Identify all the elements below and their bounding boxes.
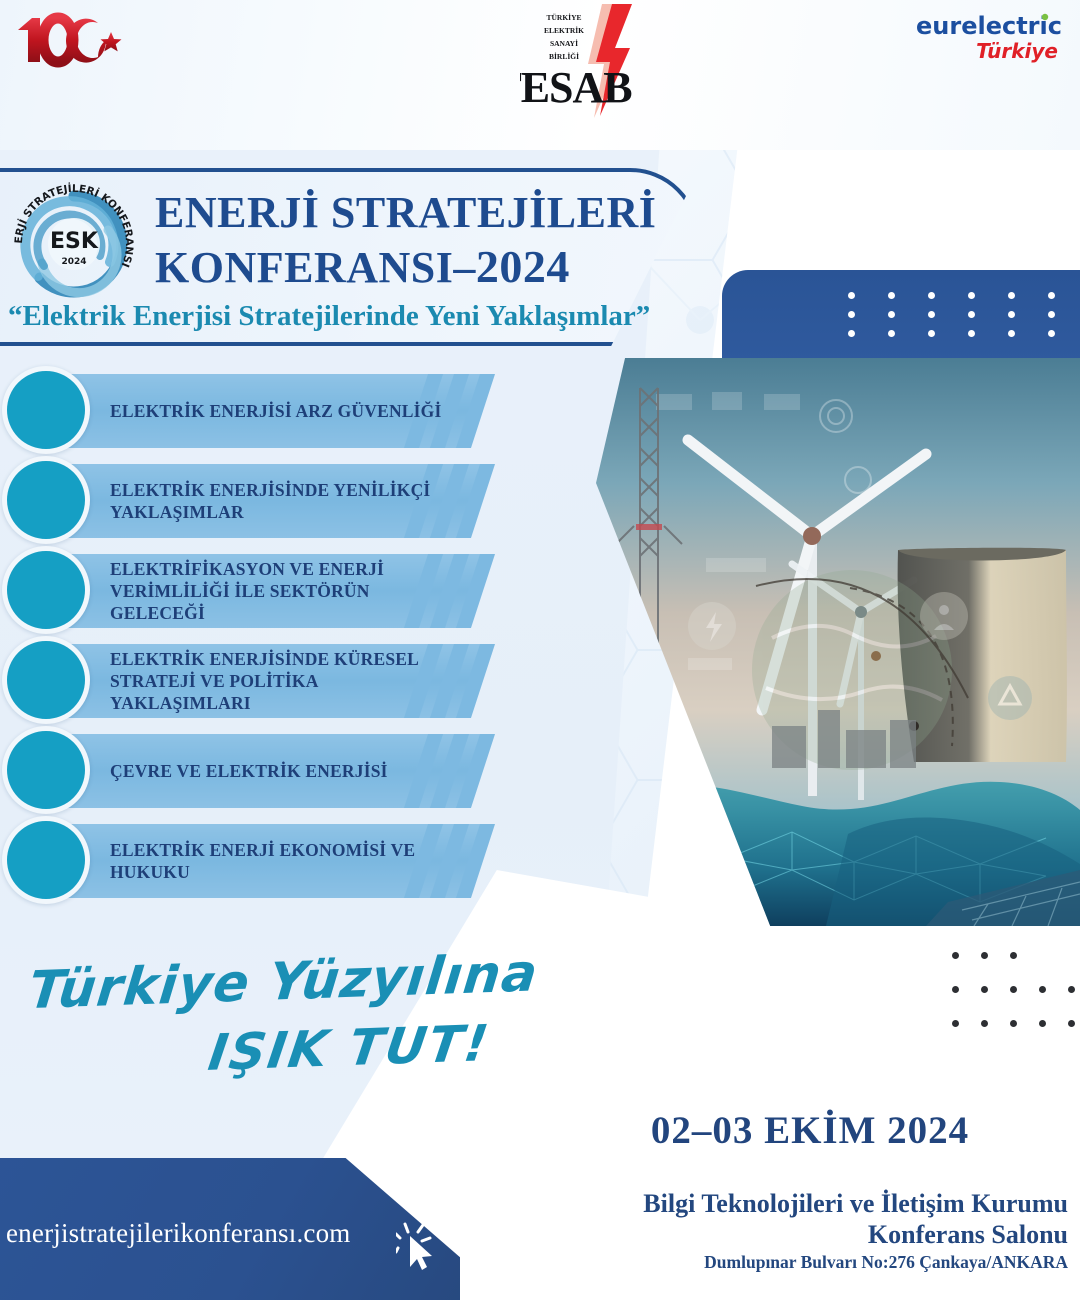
lower-dot-pattern xyxy=(952,952,1080,1054)
esk-year: 2024 xyxy=(61,257,86,267)
dot-row xyxy=(952,986,1080,993)
click-cursor-icon xyxy=(396,1222,438,1272)
venue-address: Dumlupınar Bulvarı No:276 Çankaya/ANKARA xyxy=(540,1250,1068,1274)
slogan-line-1: Türkiye Yüzyılına xyxy=(26,943,555,1021)
venue-name-line-2: Konferans Salonu xyxy=(540,1219,1068,1250)
topic-label: ELEKTRİK ENERJİSİ ARZ GÜVENLİĞİ xyxy=(110,366,460,456)
dot-row xyxy=(952,952,1080,959)
svg-text:TESAB: TESAB xyxy=(520,63,632,112)
decorative-dot-band xyxy=(722,270,1080,362)
topic-bullet-circle xyxy=(2,456,90,544)
topic-item[interactable]: ELEKTRİK ENERJİSİNDE YENİLİKÇİ YAKLAŞIML… xyxy=(0,456,540,546)
svg-text:ELEKTRİK: ELEKTRİK xyxy=(544,25,584,35)
title-line-1: ENERJİ STRATEJİLERİ xyxy=(155,186,675,240)
title-line-2: KONFERANSI–2024 xyxy=(155,240,675,295)
dot-grid xyxy=(848,292,1080,349)
dot-row xyxy=(952,1020,1080,1027)
esk-acronym: ESK xyxy=(50,229,99,254)
title-year: 2024 xyxy=(476,241,570,292)
conference-title: ENERJİ STRATEJİLERİ KONFERANSI–2024 xyxy=(155,186,675,295)
svg-text:TÜRKİYE: TÜRKİYE xyxy=(546,12,581,22)
topic-bullet-circle xyxy=(2,636,90,724)
esk-conference-logo: ESK 2024 ENERJİ STRATEJİLERİ KONFERANSI xyxy=(8,178,140,310)
topic-item[interactable]: ELEKTRİK ENERJİSİNDE KÜRESEL STRATEJİ VE… xyxy=(0,636,540,726)
svg-text:SANAYİ: SANAYİ xyxy=(550,38,578,48)
topic-item[interactable]: ELEKTRİFİKASYON VE ENERJİ VERİMLİLİĞİ İL… xyxy=(0,546,540,636)
conference-poster: TÜRKİYE ELEKTRİK SANAYİ BİRLİĞİ TESAB eu… xyxy=(0,0,1080,1300)
svg-text:Türkiye: Türkiye xyxy=(976,39,1058,63)
topic-bullet-circle xyxy=(2,366,90,454)
venue-name-line-1: Bilgi Teknolojileri ve İletişim Kurumu xyxy=(540,1188,1068,1219)
topic-label: ELEKTRİFİKASYON VE ENERJİ VERİMLİLİĞİ İL… xyxy=(110,546,460,636)
centenary-100-logo xyxy=(10,8,130,70)
slogan-line-2: IŞIK TUT! xyxy=(205,1012,555,1082)
event-date: 02–03 EKİM 2024 xyxy=(560,1108,1060,1153)
tesab-logo: TÜRKİYE ELEKTRİK SANAYİ BİRLİĞİ TESAB xyxy=(520,2,660,120)
eurelectric-logo: eurelectric Türkiye xyxy=(908,8,1068,66)
campaign-slogan: Türkiye Yüzyılına IŞIK TUT! xyxy=(30,952,550,1092)
topic-bullet-circle xyxy=(2,816,90,904)
website-url[interactable]: enerjistratejilerikonferansı.com xyxy=(6,1218,426,1249)
topic-bullet-circle xyxy=(2,726,90,814)
svg-text:BİRLİĞİ: BİRLİĞİ xyxy=(549,51,579,61)
topic-item[interactable]: ELEKTRİK ENERJİSİ ARZ GÜVENLİĞİ xyxy=(0,366,540,456)
topic-label: ELEKTRİK ENERJİSİNDE KÜRESEL STRATEJİ VE… xyxy=(110,636,460,726)
topic-label: ÇEVRE VE ELEKTRİK ENERJİSİ xyxy=(110,726,460,816)
topic-label: ELEKTRİK ENERJİ EKONOMİSİ VE HUKUKU xyxy=(110,816,460,906)
topic-bullet-circle xyxy=(2,546,90,634)
tesab-subtitle-lines: TÜRKİYE ELEKTRİK SANAYİ BİRLİĞİ xyxy=(544,12,584,61)
topic-item[interactable]: ELEKTRİK ENERJİ EKONOMİSİ VE HUKUKU xyxy=(0,816,540,906)
svg-text:eurelectric: eurelectric xyxy=(916,12,1062,40)
topic-label: ELEKTRİK ENERJİSİNDE YENİLİKÇİ YAKLAŞIML… xyxy=(110,456,460,546)
topic-list: ELEKTRİK ENERJİSİ ARZ GÜVENLİĞİ ELEKTRİK… xyxy=(0,366,540,906)
event-venue: Bilgi Teknolojileri ve İletişim Kurumu K… xyxy=(540,1188,1068,1274)
conference-subtitle: “Elektrik Enerjisi Stratejilerinde Yeni … xyxy=(8,300,688,333)
topic-item[interactable]: ÇEVRE VE ELEKTRİK ENERJİSİ xyxy=(0,726,540,816)
